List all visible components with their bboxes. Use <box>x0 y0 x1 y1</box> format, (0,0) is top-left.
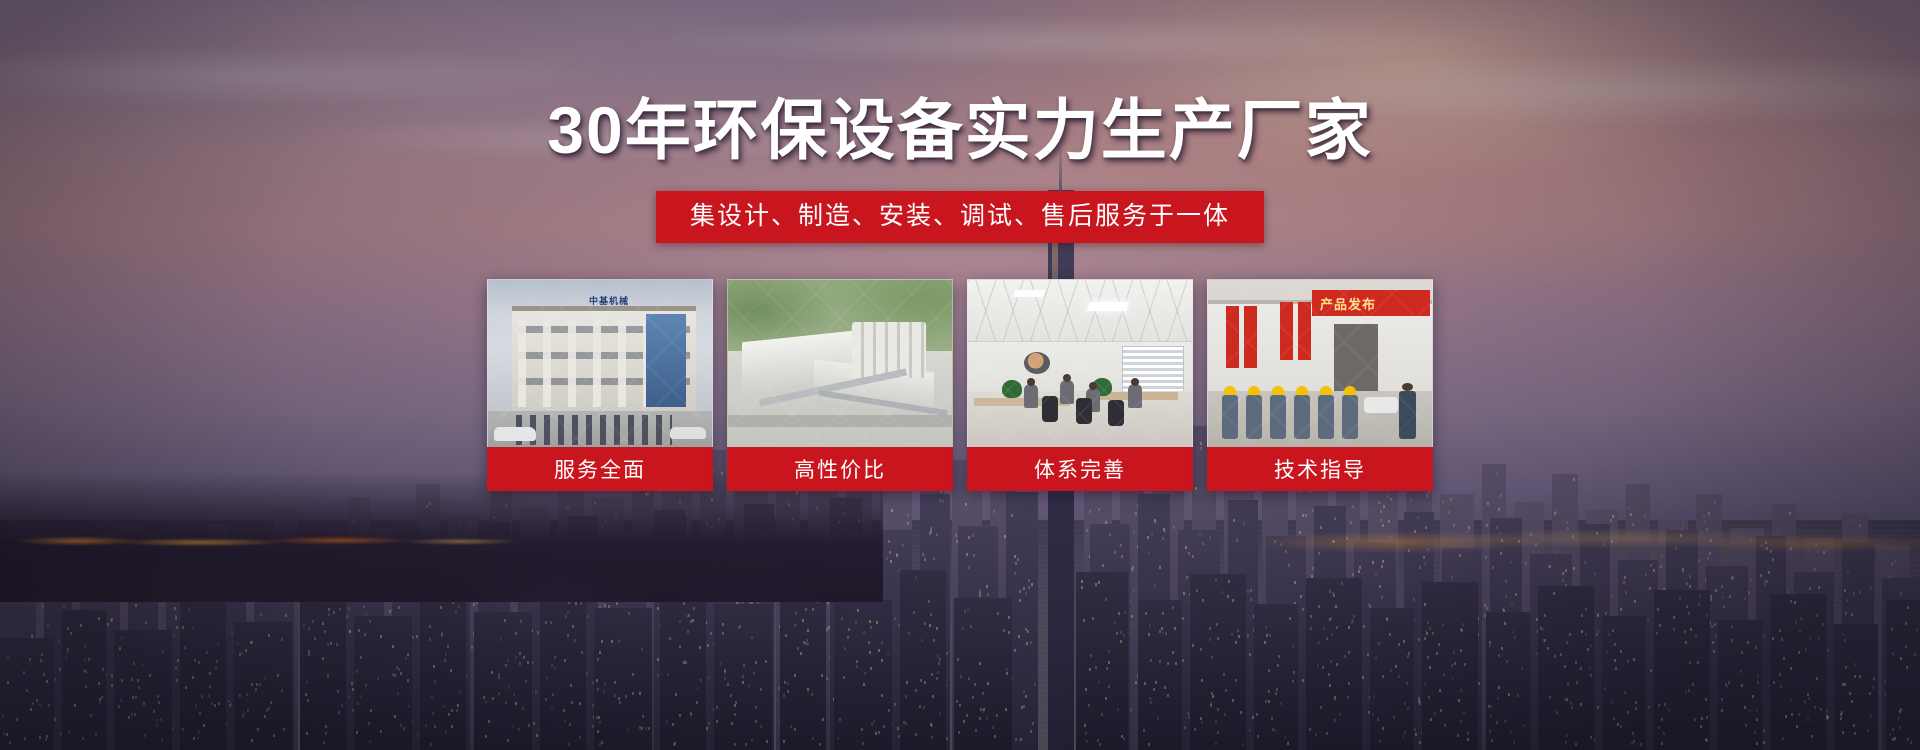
feature-card[interactable]: 中基机械 服务全面 <box>487 279 713 491</box>
banner-subtitle-bar: 集设计、制造、安装、调试、售后服务于一体 <box>656 191 1264 243</box>
company-office-building-photo: 中基机械 <box>487 279 713 447</box>
feature-card-label: 高性价比 <box>727 447 953 491</box>
banner-headline: 30年环保设备实力生产厂家 <box>547 96 1372 165</box>
workshop-workers-photo <box>1207 279 1433 447</box>
workshop-red-banner <box>1312 290 1430 316</box>
feature-card-label: 体系完善 <box>967 447 1193 491</box>
banner-content: 30年环保设备实力生产厂家 集设计、制造、安装、调试、售后服务于一体 中基机械 <box>0 0 1920 750</box>
feature-card[interactable]: 体系完善 <box>967 279 1193 491</box>
aerial-factory-plant-photo <box>727 279 953 447</box>
feature-card-list: 中基机械 服务全面 <box>487 279 1433 491</box>
office-interior-staff-photo <box>967 279 1193 447</box>
feature-card-label: 技术指导 <box>1207 447 1433 491</box>
building-sign-text: 中基机械 <box>589 294 629 307</box>
hero-banner: 30年环保设备实力生产厂家 集设计、制造、安装、调试、售后服务于一体 中基机械 <box>0 0 1920 750</box>
feature-card[interactable]: 高性价比 <box>727 279 953 491</box>
feature-card[interactable]: 技术指导 <box>1207 279 1433 491</box>
feature-card-label: 服务全面 <box>487 447 713 491</box>
